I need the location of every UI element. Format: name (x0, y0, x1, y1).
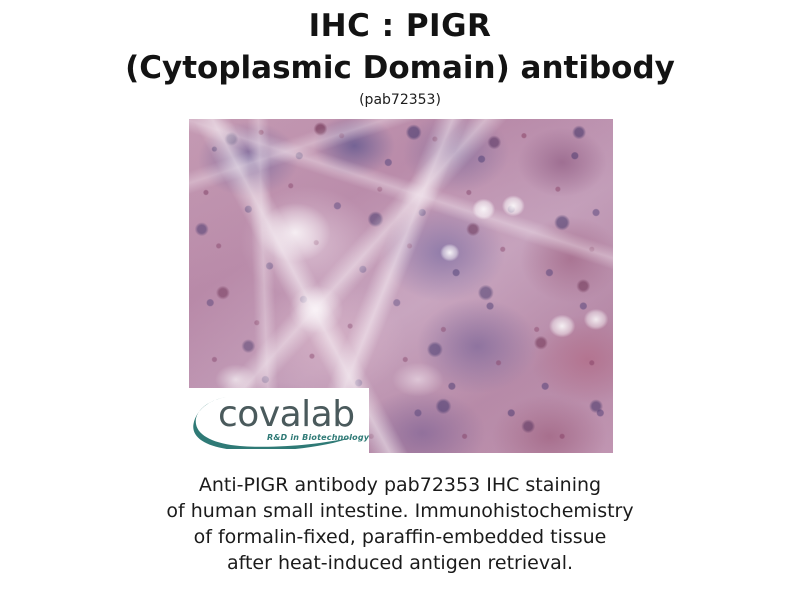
caption-line-4: after heat-induced antigen retrieval. (0, 550, 800, 576)
caption-line-3: of formalin-fixed, paraffin-embedded tis… (0, 524, 800, 550)
caption-line-2: of human small intestine. Immunohistoche… (0, 498, 800, 524)
covalab-wordmark: covalab (218, 397, 355, 433)
micrograph-image: covalab R&D in Biotechnology (189, 119, 613, 453)
page-subtitle: (Cytoplasmic Domain) antibody (0, 48, 800, 88)
figure-caption: Anti-PIGR antibody pab72353 IHC staining… (0, 472, 800, 576)
covalab-logo: covalab R&D in Biotechnology (189, 388, 369, 453)
figure-page: IHC : PIGR (Cytoplasmic Domain) antibody… (0, 0, 800, 600)
caption-line-1: Anti-PIGR antibody pab72353 IHC staining (0, 472, 800, 498)
covalab-tagline: R&D in Biotechnology (267, 433, 369, 443)
figure-title-block: IHC : PIGR (Cytoplasmic Domain) antibody… (0, 0, 800, 109)
page-title: IHC : PIGR (0, 6, 800, 46)
catalog-code: (pab72353) (0, 91, 800, 109)
